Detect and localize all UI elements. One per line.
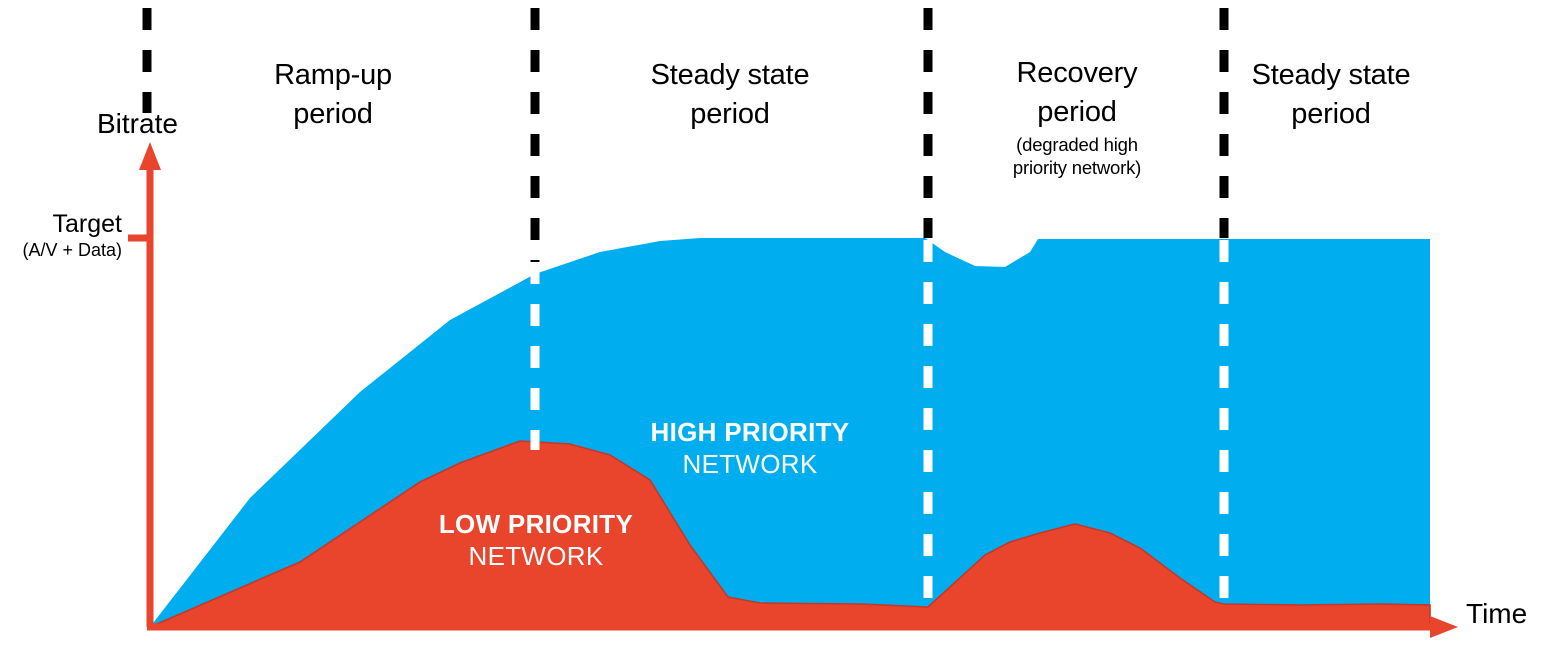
high-priority-label-top: HIGH PRIORITY	[620, 417, 880, 449]
x-axis-label-text: Time	[1466, 598, 1527, 629]
target-tick-label: Target (A/V + Data)	[0, 210, 122, 261]
high-priority-label-bottom: NETWORK	[620, 449, 880, 481]
phase-title-steady-state-2: Steady state period	[1252, 59, 1411, 129]
y-axis-label-text: Bitrate	[97, 108, 178, 139]
low-priority-label-top: LOW PRIORITY	[406, 509, 666, 541]
phase-title-recovery: Recovery period	[1017, 57, 1138, 127]
target-label-main: Target	[0, 210, 122, 240]
phase-label-recovery: Recovery period (degraded high priority …	[947, 16, 1207, 218]
figure-canvas: Ramp-up period Steady state period Recov…	[0, 0, 1545, 655]
phase-label-steady-state-1: Steady state period	[600, 18, 860, 133]
y-axis-arrow	[139, 142, 161, 627]
phase-label-ramp-up: Ramp-up period	[203, 18, 463, 133]
y-axis-label: Bitrate	[97, 107, 178, 141]
phase-label-steady-state-2: Steady state period	[1201, 18, 1461, 133]
series-label-low-priority: LOW PRIORITY NETWORK	[406, 509, 666, 572]
phase-title-steady-state-1: Steady state period	[651, 59, 810, 129]
phase-subtitle-recovery: (degraded high priority network)	[947, 133, 1207, 180]
low-priority-label-bottom: NETWORK	[406, 541, 666, 573]
series-label-high-priority: HIGH PRIORITY NETWORK	[620, 417, 880, 480]
target-label-sub: (A/V + Data)	[0, 240, 122, 261]
phase-title-ramp-up: Ramp-up period	[274, 59, 392, 129]
x-axis-label: Time	[1466, 597, 1527, 631]
